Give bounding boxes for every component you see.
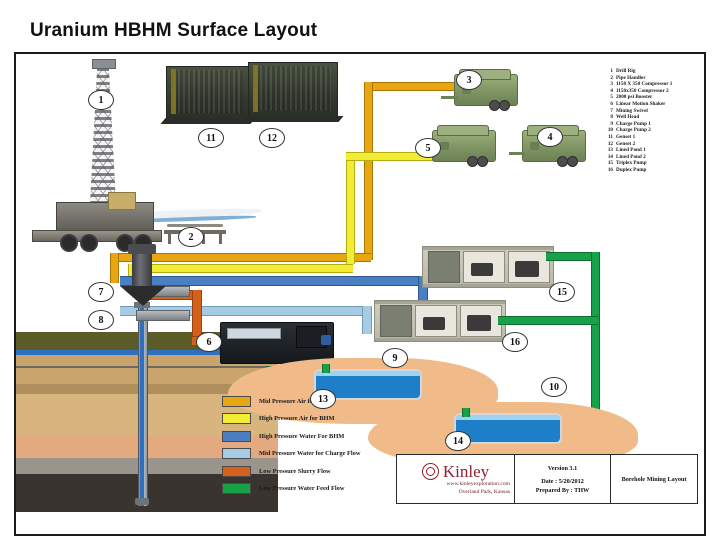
callout-11: 11 [198, 128, 224, 148]
flow-legend: Mid Pressure Air for AirliftHigh Pressur… [222, 394, 402, 499]
genset-stripe [253, 65, 258, 112]
legend-label: Low Pressure Slurry Flow [259, 468, 331, 475]
company-name: Kinley [443, 463, 489, 480]
pipe-rack-leg [219, 230, 222, 244]
callout-12: 12 [259, 128, 285, 148]
parts-index-label: Genset 2 [616, 141, 635, 147]
genset-stripe [171, 69, 176, 114]
borehole-fluid-column [140, 306, 144, 506]
parts-index-label: Triplex Pump [616, 160, 647, 166]
legend-swatch [222, 448, 251, 459]
slide: Uranium HBHM Surface Layout [0, 0, 720, 560]
swivel-cap [128, 244, 156, 254]
skid-bottom-rail [423, 284, 553, 287]
well-head [120, 286, 166, 308]
prepared-by-text: Prepared By : THW [536, 486, 589, 495]
callout-1: 1 [88, 90, 114, 110]
skid-enclosure-bay [380, 305, 412, 337]
legend-swatch [222, 431, 251, 442]
callout-14: 14 [445, 431, 471, 451]
parts-index-row: 14Lined Pond 2 [604, 154, 704, 161]
parts-index-label: Well Head [616, 114, 639, 120]
parts-index-number: 14 [604, 154, 613, 161]
legend-swatch [222, 396, 251, 407]
duplex-pump-unit [467, 315, 491, 331]
parts-index-label: Charge Pump 1 [616, 121, 651, 127]
duplex-pump-skid [374, 300, 506, 342]
rig-crown-block [92, 59, 116, 69]
legend-row: Low Pressure Slurry Flow [222, 464, 402, 478]
parts-index: 1Drill Rig2Pipe Handler31150 X 350 Compr… [604, 68, 704, 174]
skid-top-rail [375, 301, 505, 304]
diagram-canvas: 12345678910111213141516 Mid Pressure Air… [16, 54, 704, 534]
genset-skid [242, 116, 343, 122]
legend-swatch [222, 483, 251, 494]
parts-index-number: 11 [604, 134, 613, 141]
parts-index-label: Lined Pond 1 [616, 147, 646, 153]
callout-8: 8 [88, 310, 114, 330]
pond-2-liner-lip [456, 415, 560, 420]
legend-label: High Pressure Air for BHM [259, 415, 335, 422]
genset-louvers [173, 70, 243, 113]
parts-index-row: 16Duplex Pump [604, 167, 704, 174]
parts-index-number: 6 [604, 101, 613, 108]
revision-cell: Version 3.1 Date : 5/20/2012 Prepared By… [515, 455, 611, 503]
skid-enclosure-bay [428, 251, 460, 283]
parts-index-number: 7 [604, 108, 613, 115]
parts-index-number: 1 [604, 68, 613, 75]
pipe-feed-from-duplex [498, 316, 598, 325]
triplex-drive-motor [471, 263, 493, 276]
parts-index-row: 11Genset 1 [604, 134, 704, 141]
pipe-hp-air-riser [346, 152, 355, 264]
parts-index-number: 10 [604, 127, 613, 134]
legend-label: Low Pressure Water Feed Flow [259, 485, 344, 492]
booster-panel [440, 142, 449, 150]
parts-index-number: 3 [604, 81, 613, 88]
parts-index-number: 15 [604, 160, 613, 167]
parts-index-label: Charge Pump 2 [616, 127, 651, 133]
charge-pump-1 [322, 364, 330, 373]
parts-index-row: 10Charge Pump 2 [604, 127, 704, 134]
callout-15: 15 [549, 282, 575, 302]
parts-index-number: 2 [604, 75, 613, 82]
skid-top-rail [423, 247, 553, 250]
parts-index-number: 9 [604, 121, 613, 128]
rig-cab [108, 192, 136, 210]
parts-index-number: 4 [604, 88, 613, 95]
parts-index-label: 2000 psi Booster [616, 94, 652, 100]
parts-index-row: 8Well Head [604, 114, 704, 121]
callout-3: 3 [456, 70, 482, 90]
triplex-pump-skid [422, 246, 554, 288]
legend-row: High Pressure Water For BHM [222, 429, 402, 443]
version-text: Version 3.1 [548, 464, 577, 473]
parts-index-number: 16 [604, 167, 613, 174]
parts-index-row: 6Linear Motion Shaker [604, 101, 704, 108]
pipe-hp-water-trunk [120, 276, 426, 286]
pipe-rack-leg [168, 230, 171, 244]
compressor-wheel [499, 100, 510, 111]
date-text: Date : 5/20/2012 [541, 477, 584, 486]
genset-skid [160, 118, 255, 124]
parts-index-row: 12Genset 2 [604, 141, 704, 148]
company-logo-cell: Kinley www.kinleyexploration.com Overlan… [397, 455, 515, 503]
legend-label: Mid Pressure Water for Charge Flow [259, 450, 360, 457]
genset-louvers [255, 66, 331, 111]
callout-7: 7 [88, 282, 114, 302]
parts-index-row: 2Pipe Handler [604, 75, 704, 82]
compressor-tongue [441, 96, 457, 99]
triplex-pump-unit [515, 261, 539, 277]
callout-4: 4 [537, 127, 563, 147]
legend-swatch [222, 466, 251, 477]
page-title: Uranium HBHM Surface Layout [30, 20, 317, 42]
parts-index-label: Pipe Handler [616, 75, 646, 81]
parts-index-label: Genset 1 [616, 134, 635, 140]
compressor-panel [530, 142, 539, 150]
parts-index-label: Mining Swivel [616, 108, 648, 114]
legend-row: High Pressure Air for BHM [222, 412, 402, 426]
parts-index-row: 1Drill Rig [604, 68, 704, 75]
parts-index-row: 13Lined Pond 1 [604, 147, 704, 154]
parts-index-label: 1150x350 Compressor 2 [616, 88, 669, 94]
booster-wheel [477, 156, 488, 167]
shaker-motor [321, 335, 331, 345]
parts-index-number: 13 [604, 147, 613, 154]
shaker-screen-deck [227, 328, 281, 339]
skid-bottom-rail [375, 338, 505, 341]
kinley-logo-icon [422, 463, 439, 480]
callout-16: 16 [502, 332, 528, 352]
company-city: Overland Park, Kansas [401, 489, 510, 496]
compressor-tongue [509, 152, 525, 155]
diagram-frame: 12345678910111213141516 Mid Pressure Air… [14, 52, 706, 536]
borehole-mining-tool [135, 498, 149, 505]
legend-row: Low Pressure Water Feed Flow [222, 482, 402, 496]
drawing-name: Borehole Mining Layout [622, 475, 687, 484]
parts-index-label: 1150 X 350 Compressor 1 [616, 81, 672, 87]
callout-13: 13 [310, 389, 336, 409]
compressor-wheel [567, 156, 578, 167]
parts-index-label: Drill Rig [616, 68, 635, 74]
legend-row: Mid Pressure Water for Charge Flow [222, 447, 402, 461]
company-website: www.kinleyexploration.com [401, 481, 510, 488]
parts-index-row: 52000 psi Booster [604, 94, 704, 101]
parts-index-number: 8 [604, 114, 613, 121]
duplex-drive-motor [423, 317, 445, 330]
rig-mast-lattice [90, 64, 116, 204]
drawing-name-cell: Borehole Mining Layout [611, 455, 697, 503]
booster-roof [437, 125, 489, 136]
callout-6: 6 [196, 332, 222, 352]
parts-index-row: 41150x350 Compressor 2 [604, 88, 704, 95]
parts-index-number: 5 [604, 94, 613, 101]
pipe-hp-air-trunk [128, 264, 353, 273]
genset-2 [248, 62, 338, 118]
parts-index-label: Lined Pond 2 [616, 154, 646, 160]
callout-5: 5 [415, 138, 441, 158]
title-block: Kinley www.kinleyexploration.com Overlan… [396, 454, 698, 504]
parts-index-label: Linear Motion Shaker [616, 101, 665, 107]
charge-pump-2 [462, 408, 470, 417]
parts-index-row: 9Charge Pump 1 [604, 121, 704, 128]
parts-index-row: 7Mining Swivel [604, 108, 704, 115]
rig-tire [80, 234, 98, 252]
callout-9: 9 [382, 348, 408, 368]
callout-2: 2 [178, 227, 204, 247]
logo-line: Kinley [422, 463, 489, 480]
parts-index-row: 15Triplex Pump [604, 160, 704, 167]
booster-pump [432, 130, 496, 162]
rig-tire [60, 234, 78, 252]
pipe-charge-water-riser [362, 306, 372, 334]
legend-label: High Pressure Water For BHM [259, 433, 344, 440]
callout-10: 10 [541, 377, 567, 397]
pipe-mid-air-riser [364, 82, 373, 260]
pond-1-liner-lip [316, 371, 420, 376]
legend-swatch [222, 413, 251, 424]
genset-1 [166, 66, 250, 120]
parts-index-row: 31150 X 350 Compressor 1 [604, 81, 704, 88]
parts-index-number: 12 [604, 141, 613, 148]
wellhead-cone [120, 286, 166, 306]
swivel-inlet-stub-lower [136, 310, 190, 321]
pipe-mid-air-down [110, 253, 119, 283]
parts-index-label: Duplex Pump [616, 167, 646, 173]
